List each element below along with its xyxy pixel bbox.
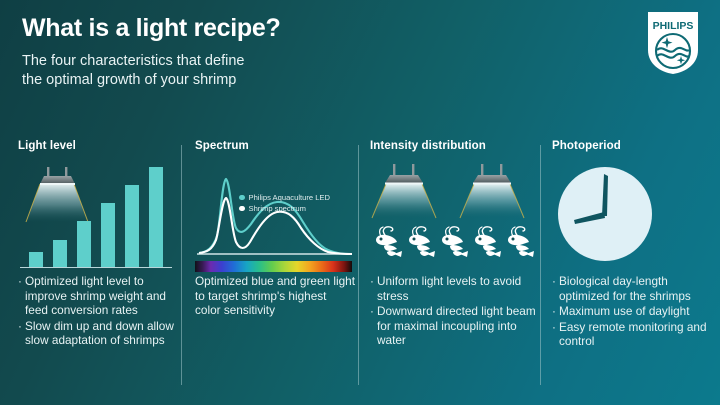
list-item: ·Easy remote monitoring and control [552,320,712,349]
column-heading-light-level: Light level [18,140,178,156]
bullet-text: Uniform light levels to avoid stress [377,274,538,303]
list-item: ·Biological day-length optimized for the… [552,274,712,303]
bar-5 [125,185,139,267]
list-item: ·Maximum use of daylight [552,304,712,319]
column-divider-2 [358,145,359,385]
bar-4 [101,203,115,267]
bullets-intensity: ·Uniform light levels to avoid stress ·D… [370,274,538,348]
legend-swatch-shrimp [239,206,245,212]
photoperiod-graphic [552,162,712,274]
intensity-illustration [370,162,538,274]
lamp-right [460,164,524,218]
column-divider-3 [540,145,541,385]
light-level-graphic [18,162,178,274]
subtitle-line-1: The four characteristics that define [22,52,244,71]
clock-wrapper [552,162,712,274]
column-light-level: Light level [18,140,178,390]
bullet-text: Easy remote monitoring and control [559,320,712,349]
shrimp-icon [372,224,404,258]
bar-chart [18,162,176,274]
shrimp-icon [438,224,470,258]
list-item: ·Downward directed light beam for maxima… [370,304,538,348]
legend-label-led: Philips Aquaculture LED [249,192,330,203]
list-item: ·Uniform light levels to avoid stress [370,274,538,303]
bar-3 [77,221,91,267]
bullet-dot: · [18,274,25,318]
bullet-text: Slow dim up and down allow slow adaptati… [25,319,178,348]
slide: What is a light recipe? The four charact… [0,0,720,405]
column-photoperiod: Photoperiod ·Biological day-length optim… [552,140,712,390]
page-title: What is a light recipe? [22,14,280,43]
legend-item-shrimp: Shrimp spectrum [239,203,330,214]
list-item: ·Optimized light level to improve shrimp… [18,274,178,318]
bullet-text: Optimized light level to improve shrimp … [25,274,178,318]
spectrum-legend: Philips Aquaculture LED Shrimp spectrum [239,192,330,214]
spectrum-chart: Philips Aquaculture LED Shrimp spectrum [195,162,355,274]
philips-logo: PHILIPS [644,10,702,76]
column-spectrum: Spectrum Philips Aquaculture LED [195,140,355,390]
bullet-text: Biological day-length optimized for the … [559,274,712,303]
bar-6 [149,167,163,267]
bullet-dot: · [552,304,559,319]
bullets-light-level: ·Optimized light level to improve shrimp… [18,274,178,348]
column-intensity-distribution: Intensity distribution [370,140,538,390]
shrimp-icon [405,224,437,258]
column-divider-1 [181,145,182,385]
bullet-dot: · [18,319,25,348]
shrimp-icon [504,224,536,258]
intensity-graphic [370,162,538,274]
visible-spectrum-bar [195,261,352,272]
legend-label-shrimp: Shrimp spectrum [249,203,306,214]
legend-swatch-led [239,195,245,201]
shrimp-row [372,224,538,260]
subtitle-line-2: the optimal growth of your shrimp [22,71,244,90]
bullet-dot: · [552,320,559,349]
bar-1 [29,252,43,267]
column-heading-intensity: Intensity distribution [370,140,538,156]
lamp-left [372,164,436,218]
bullets-photoperiod: ·Biological day-length optimized for the… [552,274,712,349]
list-item: ·Slow dim up and down allow slow adaptat… [18,319,178,348]
column-heading-spectrum: Spectrum [195,140,355,156]
two-lamps-icon [370,162,538,222]
chart-baseline [20,267,172,269]
shrimp-icon [471,224,503,258]
columns-container: Light level [0,140,720,390]
bullet-text: Downward directed light beam for maximal… [377,304,538,348]
bullet-dot: · [370,274,377,303]
bullet-dot: · [370,304,377,348]
column-heading-photoperiod: Photoperiod [552,140,712,156]
bar-2 [53,240,67,267]
philips-wordmark: PHILIPS [653,20,694,32]
legend-item-led: Philips Aquaculture LED [239,192,330,203]
spectrum-graphic: Philips Aquaculture LED Shrimp spectrum [195,162,355,274]
page-subtitle: The four characteristics that define the… [22,52,244,90]
bullet-dot: · [552,274,559,303]
clock-icon [552,162,662,268]
paragraph-spectrum: Optimized blue and green light to target… [195,274,355,318]
bullet-text: Maximum use of daylight [559,304,712,319]
